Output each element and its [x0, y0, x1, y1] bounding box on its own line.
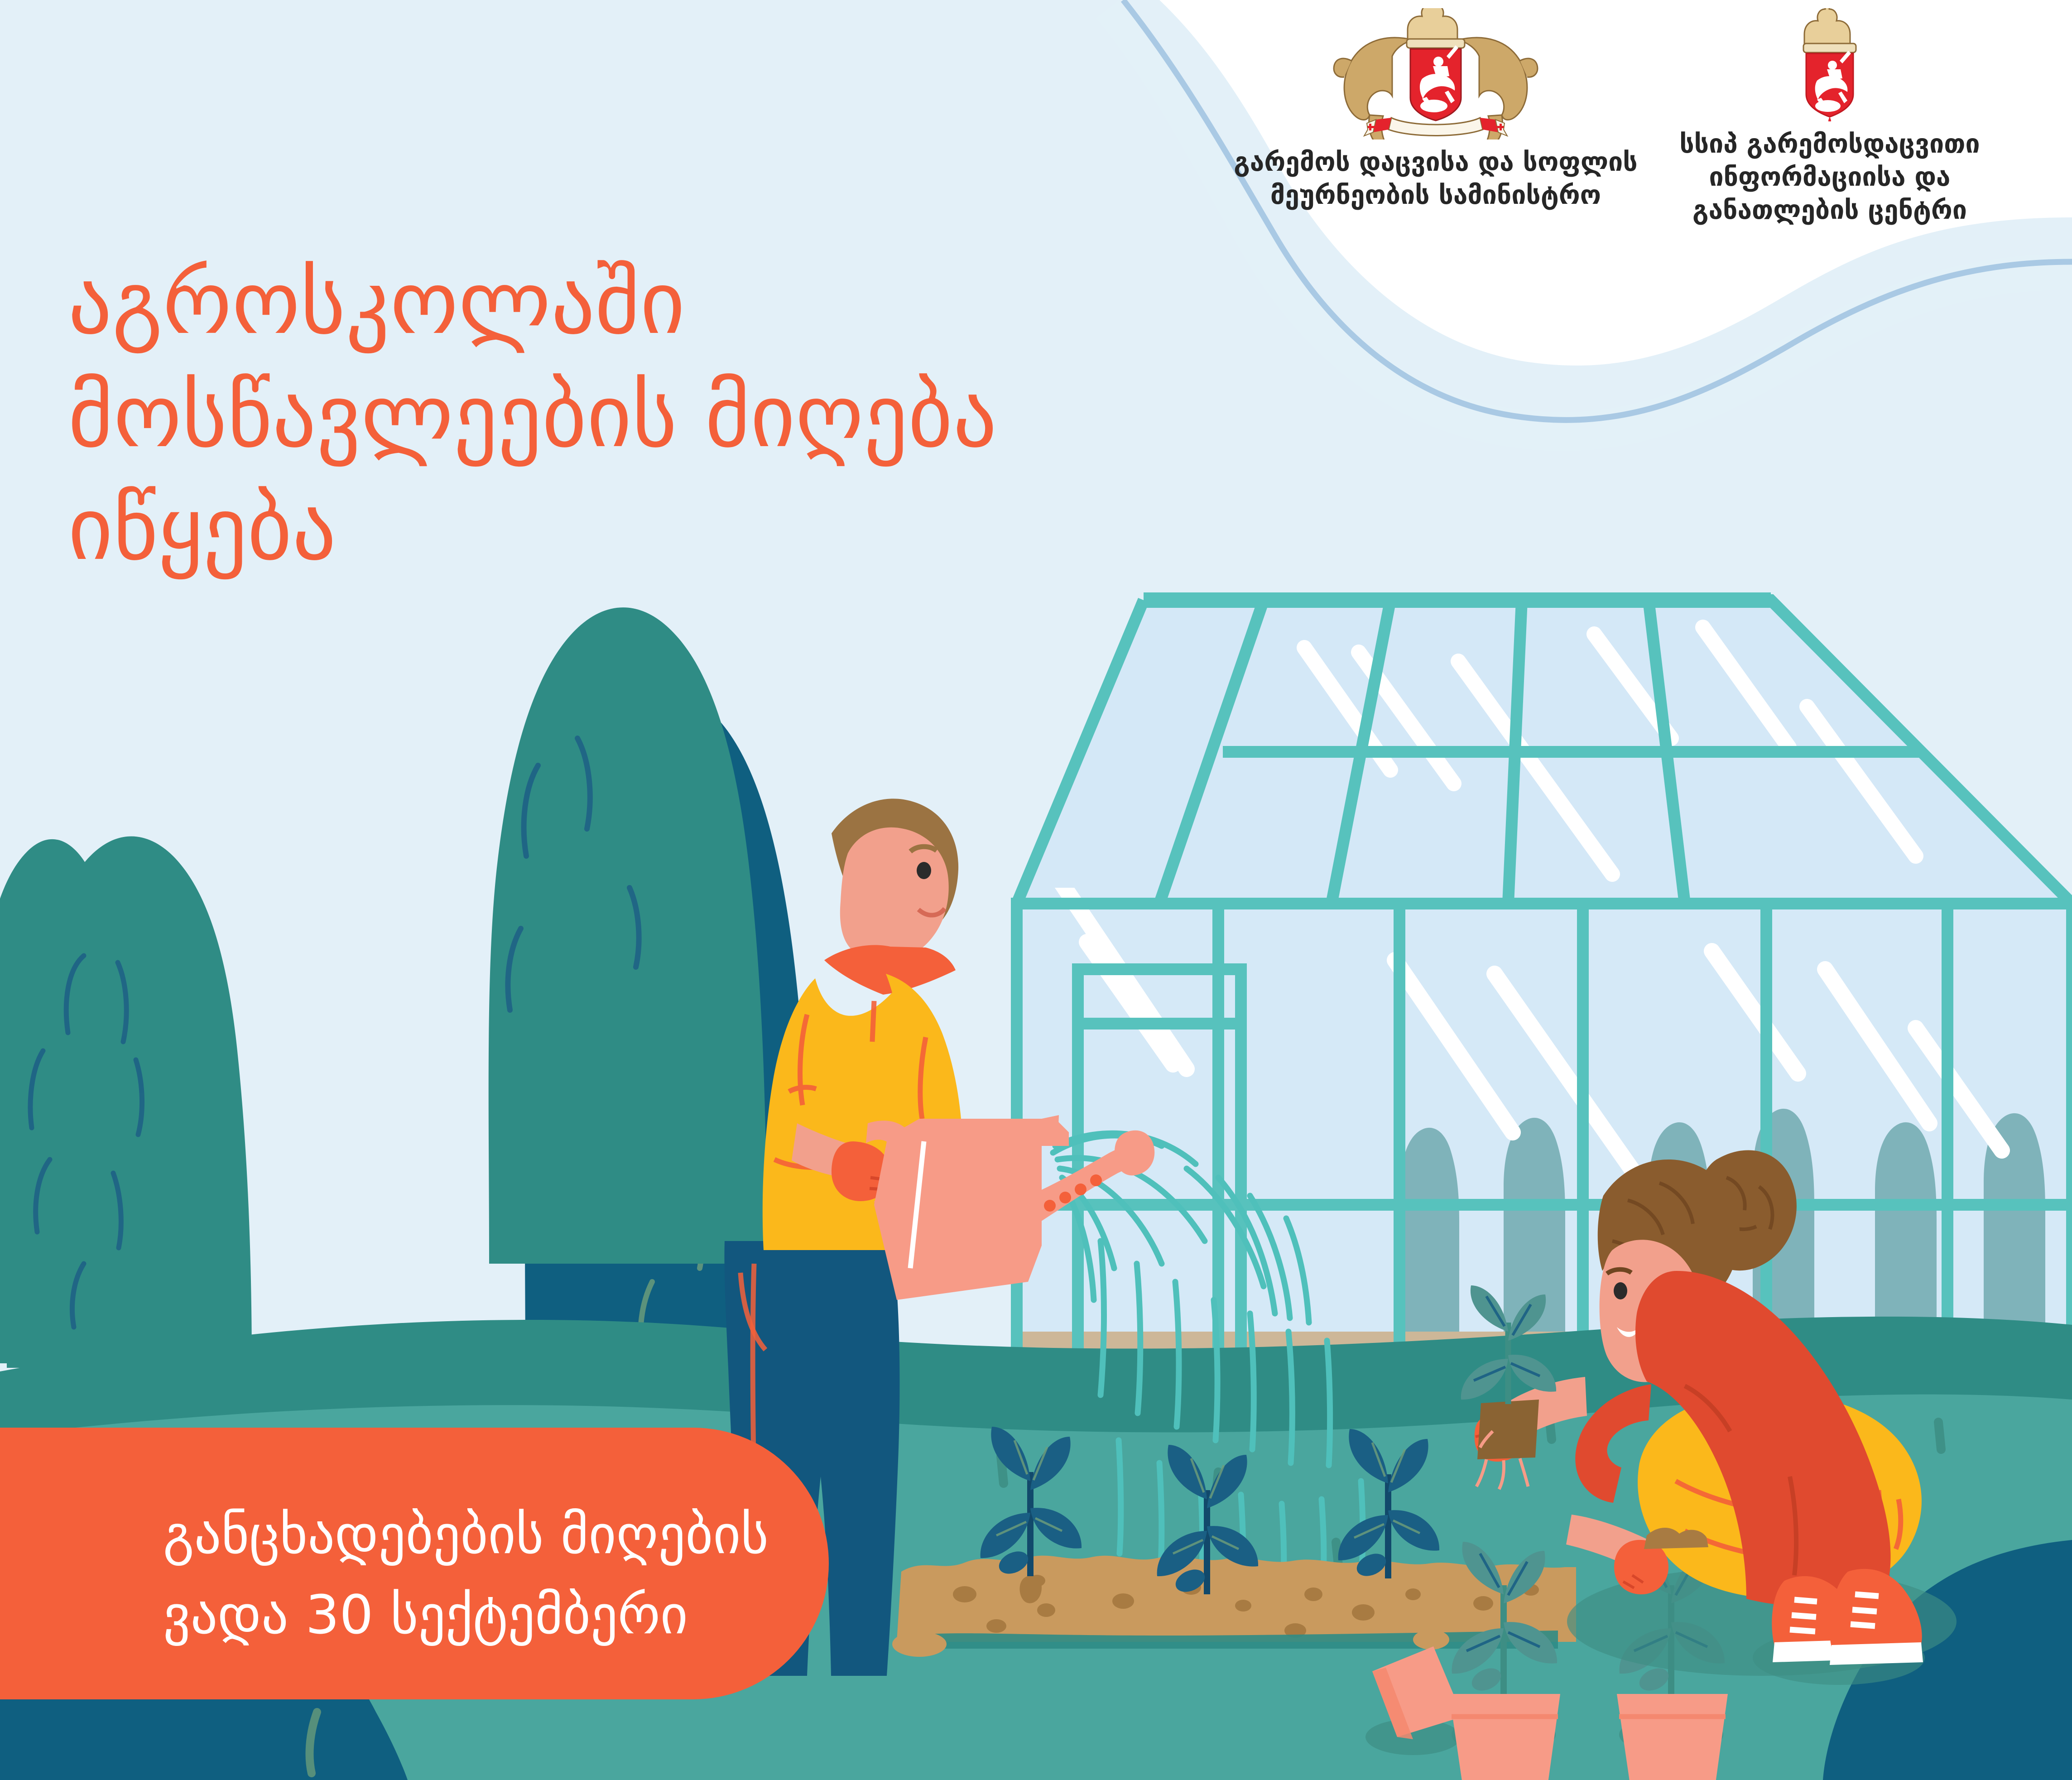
crown-icon [1803, 8, 1856, 53]
center-logo-block: სსიპ გარემოსდაცვითი ინფორმაციისა და განა… [1658, 8, 2002, 227]
center-logo-caption: სსიპ გარემოსდაცვითი ინფორმაციისა და განა… [1658, 128, 2002, 227]
pot-2 [1617, 1694, 1728, 1780]
page-title: აგროსკოლაში მოსწავლეების მიღება იწყება [68, 247, 1245, 586]
georgia-coat-of-arms-supporters-icon [1232, 8, 1639, 140]
georgia-shield-crown-icon [1658, 8, 2002, 121]
shoe-front-sole [1830, 1642, 1923, 1665]
ministry-logo-block: გარემოს დაცვისა და სოფლის მეურნეობის სამ… [1232, 8, 1639, 212]
pot-1 [1449, 1694, 1560, 1780]
man-eye [917, 862, 931, 879]
deadline-banner-text: განცხადებების მიღების ვადა 30 სექტემბერი [163, 1495, 888, 1655]
ministry-logo-caption: გარემოს დაცვისა და სოფლის მეურნეობის სამ… [1232, 146, 1639, 212]
poster-canvas: განცხადებების მიღების ვადა 30 სექტემბერი… [0, 0, 2072, 1780]
root-ball [1477, 1400, 1539, 1459]
woman-eye [1614, 1282, 1627, 1299]
crown-icon [1407, 8, 1465, 48]
